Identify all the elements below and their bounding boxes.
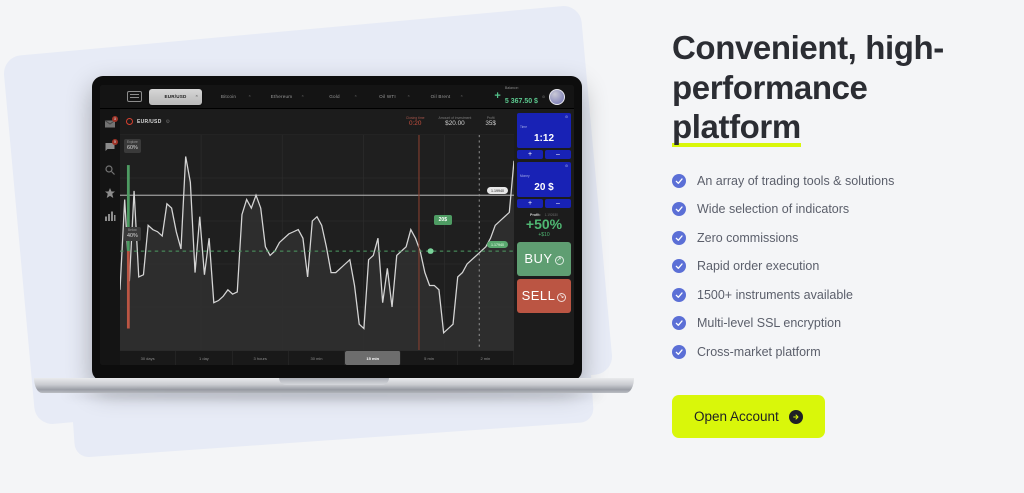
sell-label: SELL bbox=[522, 288, 556, 303]
list-item: 1500+ instruments available bbox=[672, 288, 1002, 302]
timeframe-30-days[interactable]: 30 days bbox=[120, 351, 176, 365]
money-label: Money bbox=[520, 174, 530, 178]
profit-amount: +$10 bbox=[517, 232, 571, 238]
marketing-column: Convenient, high- performance platform A… bbox=[672, 28, 1002, 438]
sentiment-up-value: 60% bbox=[127, 145, 138, 151]
instrument-name: EUR/USD bbox=[137, 119, 162, 125]
list-item: Rapid order execution bbox=[672, 259, 1002, 273]
buy-button[interactable]: BUY↗ bbox=[517, 242, 571, 276]
list-item: An array of trading tools & solutions bbox=[672, 174, 1002, 188]
timeframe-5-min[interactable]: 5 min bbox=[401, 351, 457, 365]
gear-icon[interactable]: ⚙ bbox=[166, 119, 170, 125]
up-arrow-icon: ↗ bbox=[555, 256, 564, 265]
money-decrease-button[interactable]: – bbox=[545, 199, 571, 208]
tab-gold[interactable]: Gold × bbox=[308, 91, 361, 102]
headline-line-1: Convenient, high- bbox=[672, 29, 944, 66]
list-item: Zero commissions bbox=[672, 231, 1002, 245]
time-decrease-button[interactable]: – bbox=[545, 150, 571, 159]
tab-label: Oil Brent bbox=[431, 94, 451, 99]
search-icon[interactable] bbox=[104, 164, 116, 176]
feature-label: Rapid order execution bbox=[697, 259, 819, 273]
price-tag-upper: 1.19940 bbox=[487, 187, 508, 194]
stat-value: $20.00 bbox=[439, 120, 472, 127]
notification-badge: 3 bbox=[112, 116, 118, 122]
money-increase-button[interactable]: + bbox=[517, 199, 543, 208]
profit-percent: +50% bbox=[517, 217, 571, 232]
time-increase-button[interactable]: + bbox=[517, 150, 543, 159]
price-chart[interactable]: Explore 60% Below 40% 1.19940 1.17940 20… bbox=[120, 135, 514, 350]
gear-icon[interactable]: ⚙ bbox=[565, 164, 568, 168]
check-icon bbox=[672, 202, 686, 216]
headline-underlined: platform bbox=[672, 108, 801, 147]
stat-closing-time: Closing time 0:20 bbox=[406, 116, 425, 127]
balance-label: Balance: bbox=[505, 86, 538, 90]
feature-label: Zero commissions bbox=[697, 231, 798, 245]
add-funds-icon[interactable]: + bbox=[494, 91, 500, 102]
tab-label: Bitcoin bbox=[221, 94, 236, 99]
check-icon bbox=[672, 345, 686, 359]
arrow-right-icon bbox=[789, 410, 803, 424]
timeframe-1-day[interactable]: 1 day bbox=[176, 351, 232, 365]
check-icon bbox=[672, 288, 686, 302]
money-value: 20 $ bbox=[520, 182, 568, 194]
time-stepper: + – bbox=[517, 150, 571, 159]
sentiment-down-indicator: Below 40% bbox=[124, 227, 141, 241]
timeframe-3-hours[interactable]: 3 hours bbox=[233, 351, 289, 365]
stat-value: 35$ bbox=[485, 120, 496, 127]
feature-label: Wide selection of indicators bbox=[697, 202, 849, 216]
trade-panel: Time ⚙ 1:12 + – Money ⚙ 20 bbox=[514, 109, 574, 365]
tab-ethereum[interactable]: Ethereum × bbox=[255, 91, 308, 102]
money-control: Money ⚙ 20 $ + – bbox=[517, 162, 571, 208]
timeframe-30-min[interactable]: 30 min bbox=[289, 351, 345, 365]
platform-screen: EUR/USD × Bitcoin × Ethereum × Gold × Oi… bbox=[100, 85, 574, 365]
left-toolbar: 3 5 bbox=[100, 109, 120, 365]
close-icon[interactable]: × bbox=[248, 93, 251, 98]
messages-icon[interactable]: 5 bbox=[104, 141, 116, 153]
balance-block[interactable]: Balance: 5 367.50 $ bbox=[505, 86, 538, 108]
platform-logo-icon bbox=[127, 91, 142, 102]
gear-icon[interactable]: ⚙ bbox=[542, 95, 545, 99]
stat-profit: Profit 35$ bbox=[485, 116, 496, 127]
tab-label: EUR/USD bbox=[164, 94, 186, 99]
buy-label: BUY bbox=[524, 251, 552, 266]
avatar[interactable] bbox=[549, 89, 565, 105]
bet-marker: 20$ bbox=[434, 215, 452, 225]
tab-oil-brent[interactable]: Oil Brent × bbox=[414, 91, 467, 102]
feature-label: Cross-market platform bbox=[697, 345, 821, 359]
headline-line-2: performance bbox=[672, 69, 868, 106]
time-value: 1:12 bbox=[520, 133, 568, 145]
feature-label: Multi-level SSL encryption bbox=[697, 316, 841, 330]
tab-oil-wti[interactable]: Oil WTI × bbox=[361, 91, 414, 102]
money-box[interactable]: Money ⚙ 20 $ bbox=[517, 162, 571, 197]
platform-top-bar: EUR/USD × Bitcoin × Ethereum × Gold × Oi… bbox=[100, 85, 574, 109]
open-account-button[interactable]: Open Account bbox=[672, 395, 825, 438]
sentiment-up-indicator: Explore 60% bbox=[124, 139, 141, 153]
tab-label: Gold bbox=[329, 94, 340, 99]
balance-area: + Balance: 5 367.50 $ ⚙ bbox=[494, 86, 569, 108]
check-icon bbox=[672, 316, 686, 330]
statistics-chart-icon[interactable] bbox=[104, 210, 116, 222]
feature-label: 1500+ instruments available bbox=[697, 288, 853, 302]
instrument-info-row: EUR/USD ⚙ Closing time 0:20 Amount of in… bbox=[120, 109, 514, 135]
money-stepper: + – bbox=[517, 199, 571, 208]
down-arrow-icon: ↘ bbox=[557, 293, 566, 302]
tab-bitcoin[interactable]: Bitcoin × bbox=[202, 91, 255, 102]
tab-label: Ethereum bbox=[271, 94, 293, 99]
gear-icon[interactable]: ⚙ bbox=[565, 115, 568, 119]
record-dot-icon bbox=[126, 118, 133, 125]
timeframe-15-min[interactable]: 15 min bbox=[345, 351, 401, 365]
laptop-shadow bbox=[64, 392, 604, 400]
check-icon bbox=[672, 231, 686, 245]
balance-value: 5 367.50 $ bbox=[505, 98, 538, 105]
close-icon[interactable]: × bbox=[354, 93, 357, 98]
timeframe-2-min[interactable]: 2 min bbox=[458, 351, 514, 365]
laptop-base bbox=[34, 378, 634, 400]
platform-body: 3 5 bbox=[100, 109, 574, 365]
price-chart-svg bbox=[120, 135, 514, 350]
stat-value: 0:20 bbox=[406, 120, 425, 127]
sell-button[interactable]: SELL↘ bbox=[517, 279, 571, 313]
laptop-base-notch bbox=[279, 378, 389, 385]
laptop-mockup: EUR/USD × Bitcoin × Ethereum × Gold × Oi… bbox=[44, 60, 624, 400]
feature-label: An array of trading tools & solutions bbox=[697, 174, 894, 188]
list-item: Multi-level SSL encryption bbox=[672, 316, 1002, 330]
profit-display: Profit: 1.192630 +50% +$10 bbox=[517, 211, 571, 239]
favorites-star-icon[interactable] bbox=[104, 187, 116, 199]
close-icon[interactable]: × bbox=[460, 93, 463, 98]
page-title: Convenient, high- performance platform bbox=[672, 28, 1002, 147]
time-label: Time bbox=[520, 125, 527, 129]
notifications-icon[interactable]: 3 bbox=[104, 118, 116, 130]
time-box[interactable]: Time ⚙ 1:12 bbox=[517, 113, 571, 148]
chart-column: EUR/USD ⚙ Closing time 0:20 Amount of in… bbox=[120, 109, 514, 365]
open-account-label: Open Account bbox=[694, 409, 779, 424]
close-icon[interactable]: × bbox=[407, 93, 410, 98]
check-icon bbox=[672, 259, 686, 273]
price-tag-lower: 1.17940 bbox=[487, 241, 508, 248]
time-control: Time ⚙ 1:12 + – bbox=[517, 113, 571, 159]
tab-eurusd[interactable]: EUR/USD × bbox=[149, 89, 202, 105]
tab-label: Oil WTI bbox=[379, 94, 396, 99]
timeframe-bar: 30 days 1 day 3 hours 30 min 15 min 5 mi… bbox=[120, 350, 514, 365]
stat-amount-of-investment: Amount of investment $20.00 bbox=[439, 116, 472, 127]
close-icon[interactable]: × bbox=[195, 91, 198, 101]
message-badge: 5 bbox=[112, 139, 118, 145]
trade-stats: Closing time 0:20 Amount of investment $… bbox=[406, 116, 508, 127]
sentiment-down-value: 40% bbox=[127, 233, 138, 239]
list-item: Wide selection of indicators bbox=[672, 202, 1002, 216]
close-icon[interactable]: × bbox=[301, 93, 304, 98]
laptop-lid: EUR/USD × Bitcoin × Ethereum × Gold × Oi… bbox=[92, 76, 582, 381]
check-icon bbox=[672, 174, 686, 188]
list-item: Cross-market platform bbox=[672, 345, 1002, 359]
feature-list: An array of trading tools & solutions Wi… bbox=[672, 174, 1002, 359]
